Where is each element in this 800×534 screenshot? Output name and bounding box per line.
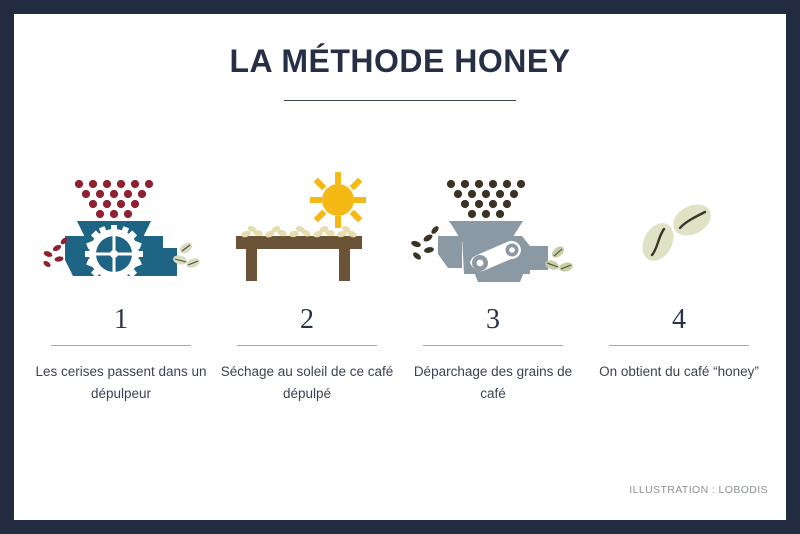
step-number: 4	[672, 306, 686, 334]
illustration-credit: ILLUSTRATION : LOBODIS	[629, 484, 768, 496]
green-coffee-beans-icon	[588, 164, 770, 294]
page-title: LA MÉTHODE HONEY	[14, 44, 786, 79]
infographic-frame: LA MÉTHODE HONEY	[0, 0, 800, 534]
husks-out	[410, 225, 440, 261]
step-2: 2 Séchage au soleil de ce café dépulpé	[216, 164, 398, 405]
step-4: 4 On obtient du café “honey”	[588, 164, 770, 383]
parchment-beans-in	[447, 180, 525, 218]
infographic-canvas: LA MÉTHODE HONEY	[14, 14, 786, 520]
step-description: Séchage au soleil de ce café dépulpé	[218, 361, 396, 405]
sun-drying-table-icon	[216, 164, 398, 294]
step-description: Déparchage des grains de café	[404, 361, 582, 405]
pulp-out	[42, 236, 68, 268]
step-description: Les cerises passent dans un dépulpeur	[32, 361, 210, 405]
title-divider	[284, 100, 516, 101]
step-3: 3 Déparchage des grains de café	[402, 164, 584, 405]
step-description: On obtient du café “honey”	[590, 361, 768, 383]
drying-table	[236, 236, 362, 281]
step-divider	[237, 345, 377, 346]
step-divider	[51, 345, 191, 346]
huller-machine-icon	[402, 164, 584, 294]
step-number: 1	[114, 306, 128, 334]
step-number: 3	[486, 306, 500, 334]
coffee-bean-upper	[668, 198, 716, 242]
step-1: 1 Les cerises passent dans un dépulpeur	[30, 164, 212, 405]
depulper-machine-icon	[30, 164, 212, 294]
sun-icon	[310, 172, 366, 228]
steps-row: 1 Les cerises passent dans un dépulpeur	[30, 164, 770, 405]
green-beans-out	[544, 244, 574, 273]
step-number: 2	[300, 306, 314, 334]
title-block: LA MÉTHODE HONEY	[14, 44, 786, 101]
cherry-dots	[75, 180, 153, 218]
step-divider	[609, 345, 749, 346]
step-divider	[423, 345, 563, 346]
